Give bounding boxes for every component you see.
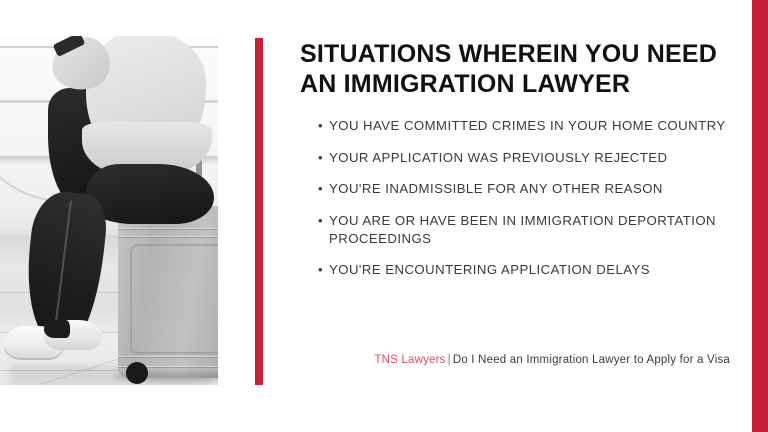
list-item: • YOU HAVE COMMITTED CRIMES IN YOUR HOME… (318, 117, 732, 135)
bullet-dot-icon: • (318, 149, 323, 167)
footer-caption: Do I Need an Immigration Lawyer to Apply… (453, 354, 730, 366)
list-item: • YOU ARE OR HAVE BEEN IN IMMIGRATION DE… (318, 212, 732, 247)
slide-photo (0, 36, 218, 385)
footer-separator: | (446, 354, 453, 366)
list-item: • YOU'RE ENCOUNTERING APPLICATION DELAYS (318, 261, 732, 279)
bullet-dot-icon: • (318, 212, 323, 230)
slide-content: SITUATIONS WHEREIN YOU NEED AN IMMIGRATI… (300, 40, 732, 279)
photo-suitcase-wheel (126, 362, 148, 384)
list-item-label: YOU HAVE COMMITTED CRIMES IN YOUR HOME C… (329, 118, 726, 133)
page-title: SITUATIONS WHEREIN YOU NEED AN IMMIGRATI… (300, 40, 732, 99)
photo-suitcase (118, 206, 218, 378)
list-item-label: YOU'RE INADMISSIBLE FOR ANY OTHER REASON (329, 181, 663, 196)
title-accent-bar (255, 38, 263, 385)
photo-sneaker-right-heel (44, 320, 70, 338)
bullet-list: • YOU HAVE COMMITTED CRIMES IN YOUR HOME… (300, 117, 732, 279)
bullet-dot-icon: • (318, 261, 323, 279)
list-item-label: YOU'RE ENCOUNTERING APPLICATION DELAYS (329, 262, 650, 277)
footer-attribution: TNS Lawyers|Do I Need an Immigration Law… (300, 352, 730, 370)
list-item-label: YOU ARE OR HAVE BEEN IN IMMIGRATION DEPO… (329, 213, 716, 246)
brand-name: TNS Lawyers (374, 354, 445, 366)
presentation-slide: SITUATIONS WHEREIN YOU NEED AN IMMIGRATI… (0, 0, 768, 432)
list-item: • YOU'RE INADMISSIBLE FOR ANY OTHER REAS… (318, 180, 732, 198)
bullet-dot-icon: • (318, 117, 323, 135)
bullet-dot-icon: • (318, 180, 323, 198)
page-title-line-1: SITUATIONS WHEREIN YOU NEED (300, 40, 732, 70)
airport-traveler-photo (0, 36, 218, 385)
list-item-label: YOUR APPLICATION WAS PREVIOUSLY REJECTED (329, 150, 667, 165)
list-item: • YOUR APPLICATION WAS PREVIOUSLY REJECT… (318, 149, 732, 167)
photo-suitcase-panel (130, 244, 218, 354)
right-edge-red-stripe (752, 0, 768, 432)
photo-suitcase-rib (118, 236, 218, 237)
photo-suitcase-rib (118, 356, 218, 357)
photo-suitcase-rib (118, 228, 218, 229)
photo-upper-leg (86, 164, 214, 224)
page-title-line-2: AN IMMIGRATION LAWYER (300, 70, 732, 100)
